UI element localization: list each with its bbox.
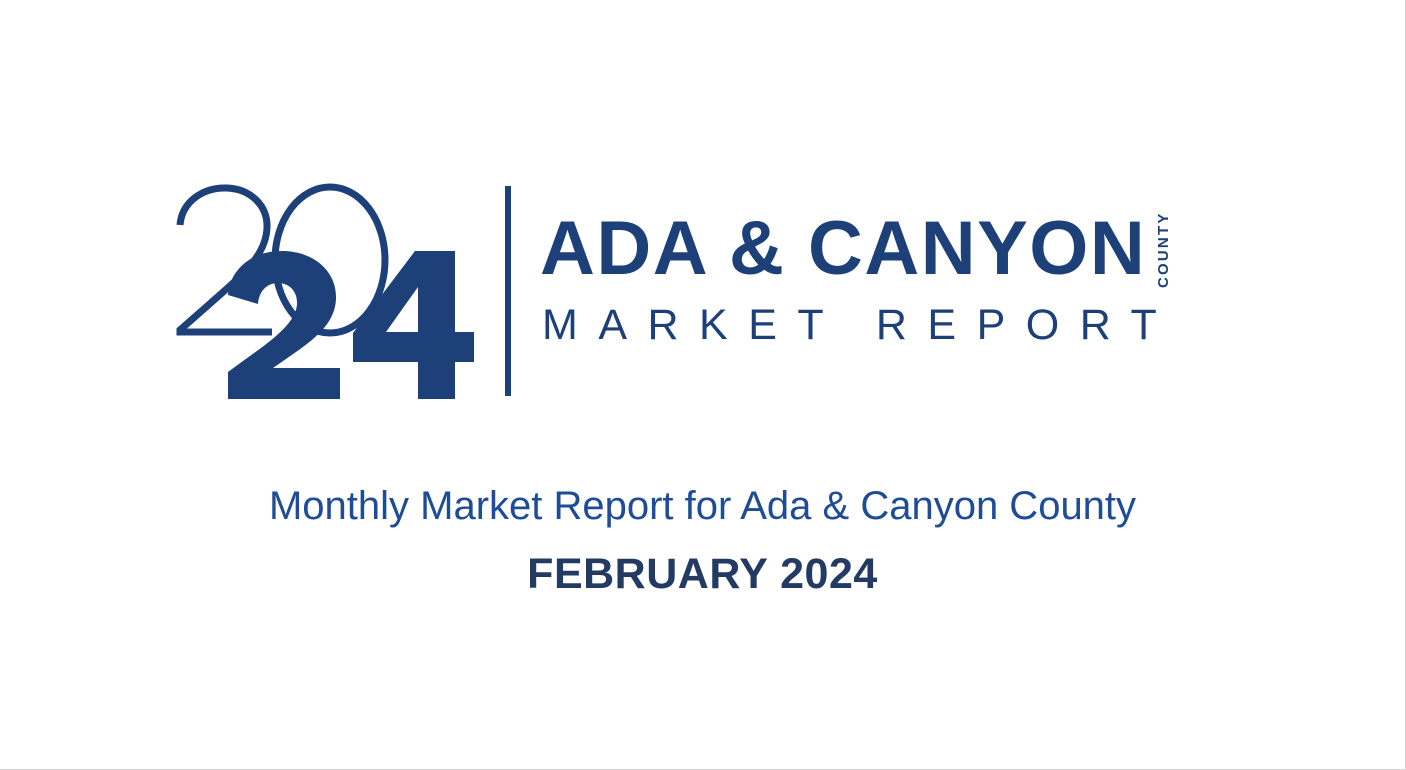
wordmark-county-tag: COUNTY [1155, 216, 1172, 288]
brand-logo-lockup: ADA & CANYON COUNTY MARKET REPORT [172, 180, 1232, 400]
wordmark-primary-text: ADA & CANYON [540, 210, 1146, 288]
report-period: FEBRUARY 2024 [0, 546, 1405, 602]
wordmark-secondary-text: MARKET REPORT [542, 302, 1177, 348]
report-cover-slide: ADA & CANYON COUNTY MARKET REPORT Monthl… [0, 0, 1406, 770]
logo-divider-rule [505, 186, 511, 396]
year-2024-icon [172, 180, 482, 400]
year-2024-mark [172, 180, 482, 400]
solid-four-glyph [353, 251, 474, 399]
solid-two-glyph [228, 251, 340, 399]
title-block: Monthly Market Report for Ada & Canyon C… [0, 480, 1405, 602]
wordmark-primary-row: ADA & CANYON COUNTY [540, 210, 1172, 288]
report-subtitle: Monthly Market Report for Ada & Canyon C… [0, 480, 1405, 532]
